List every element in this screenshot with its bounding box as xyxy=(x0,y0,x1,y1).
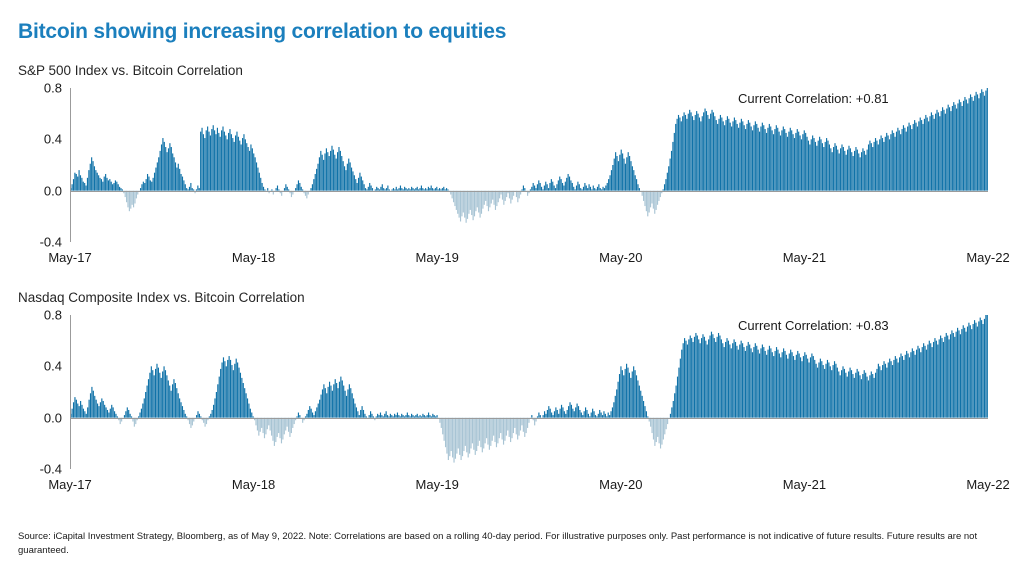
bar-series-nasdaq xyxy=(70,315,988,469)
bar-series-sp500 xyxy=(70,88,988,242)
x-axis-tick-label: May-20 xyxy=(599,477,642,492)
x-axis-tick-label: May-19 xyxy=(416,250,459,265)
plot-area-nasdaq: 0.80.40.0-0.4May-17May-18May-19May-20May… xyxy=(70,315,988,469)
y-axis-tick-label: 0.4 xyxy=(14,359,62,374)
x-axis-tick-label: May-17 xyxy=(48,250,91,265)
y-axis-tick-label: 0.8 xyxy=(14,308,62,323)
page-title: Bitcoin showing increasing correlation t… xyxy=(18,20,506,44)
x-axis-tick-label: May-22 xyxy=(966,477,1009,492)
x-axis-tick-label: May-20 xyxy=(599,250,642,265)
y-axis-line xyxy=(70,315,71,469)
x-axis-tick-label: May-21 xyxy=(783,477,826,492)
x-axis-tick-label: May-21 xyxy=(783,250,826,265)
y-axis-tick-label: 0.4 xyxy=(14,132,62,147)
y-axis-tick-label: -0.4 xyxy=(14,235,62,250)
chart-subtitle-sp500: S&P 500 Index vs. Bitcoin Correlation xyxy=(18,63,243,78)
x-axis-tick-label: May-19 xyxy=(416,477,459,492)
annotation-current-correlation-sp500: Current Correlation: +0.81 xyxy=(738,91,889,106)
x-axis-tick-label: May-18 xyxy=(232,250,275,265)
x-axis-tick-label: May-17 xyxy=(48,477,91,492)
x-axis-line xyxy=(70,418,988,419)
y-axis-line xyxy=(70,88,71,242)
y-axis-tick-label: -0.4 xyxy=(14,462,62,477)
source-footnote: Source: iCapital Investment Strategy, Bl… xyxy=(18,530,998,558)
x-axis-tick-label: May-22 xyxy=(966,250,1009,265)
y-axis-tick-label: 0.0 xyxy=(14,183,62,198)
plot-area-sp500: 0.80.40.0-0.4May-17May-18May-19May-20May… xyxy=(70,88,988,242)
x-axis-line xyxy=(70,191,988,192)
chart-subtitle-nasdaq: Nasdaq Composite Index vs. Bitcoin Corre… xyxy=(18,290,305,305)
slide-root: Bitcoin showing increasing correlation t… xyxy=(0,0,1024,576)
annotation-current-correlation-nasdaq: Current Correlation: +0.83 xyxy=(738,318,889,333)
y-axis-tick-label: 0.8 xyxy=(14,81,62,96)
y-axis-tick-label: 0.0 xyxy=(14,410,62,425)
x-axis-tick-label: May-18 xyxy=(232,477,275,492)
